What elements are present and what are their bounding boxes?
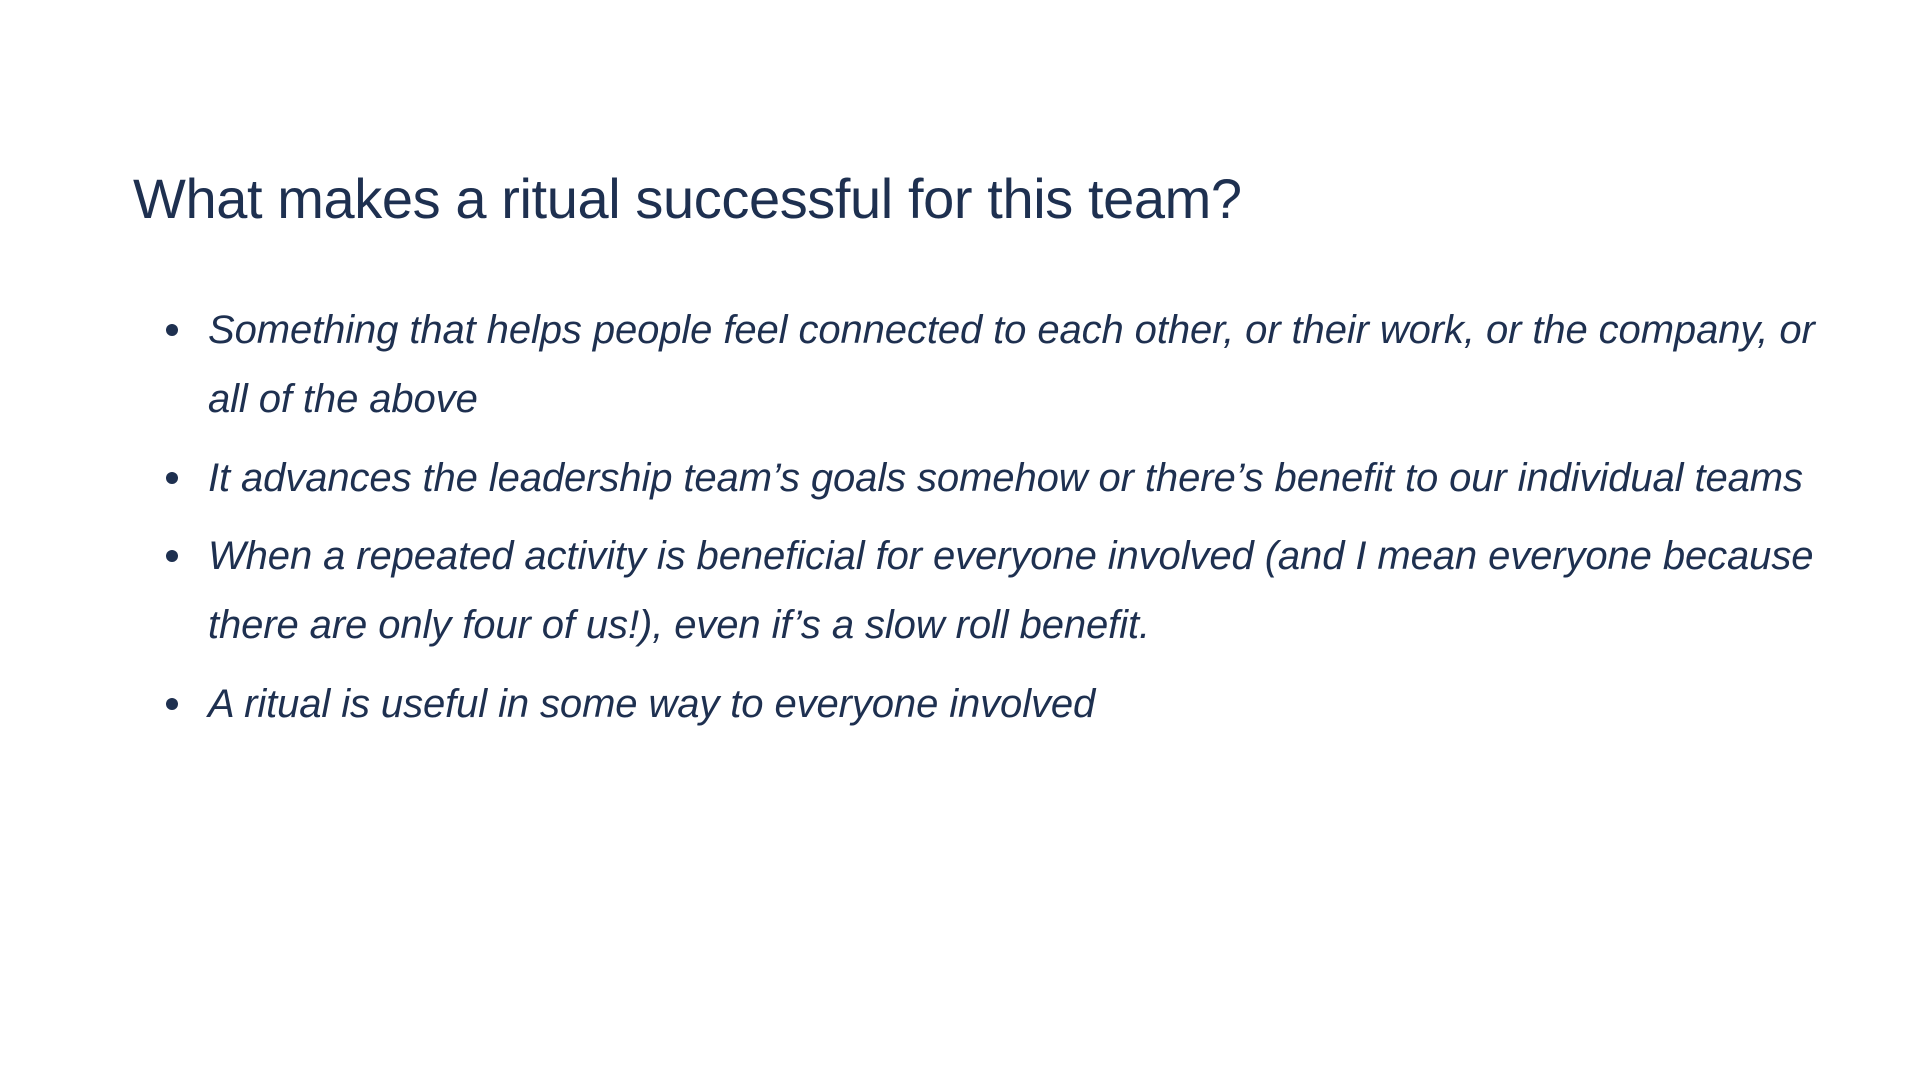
bullet-dot-icon	[164, 444, 180, 513]
list-item: Something that helps people feel connect…	[133, 296, 1833, 434]
bullet-dot-icon	[164, 522, 180, 660]
list-item-text: It advances the leadership team’s goals …	[208, 444, 1833, 513]
bullet-dot-icon	[164, 670, 180, 739]
slide-canvas: What makes a ritual successful for this …	[0, 0, 1920, 1080]
list-item: It advances the leadership team’s goals …	[133, 444, 1833, 513]
list-item-text: Something that helps people feel connect…	[208, 296, 1833, 434]
list-item: A ritual is useful in some way to everyo…	[133, 670, 1833, 739]
list-item: When a repeated activity is beneficial f…	[133, 522, 1833, 660]
list-item-text: When a repeated activity is beneficial f…	[208, 522, 1833, 660]
page-title: What makes a ritual successful for this …	[133, 166, 1793, 232]
list-item-text: A ritual is useful in some way to everyo…	[208, 670, 1833, 739]
bullet-list: Something that helps people feel connect…	[133, 296, 1833, 739]
bullet-dot-icon	[164, 296, 180, 434]
